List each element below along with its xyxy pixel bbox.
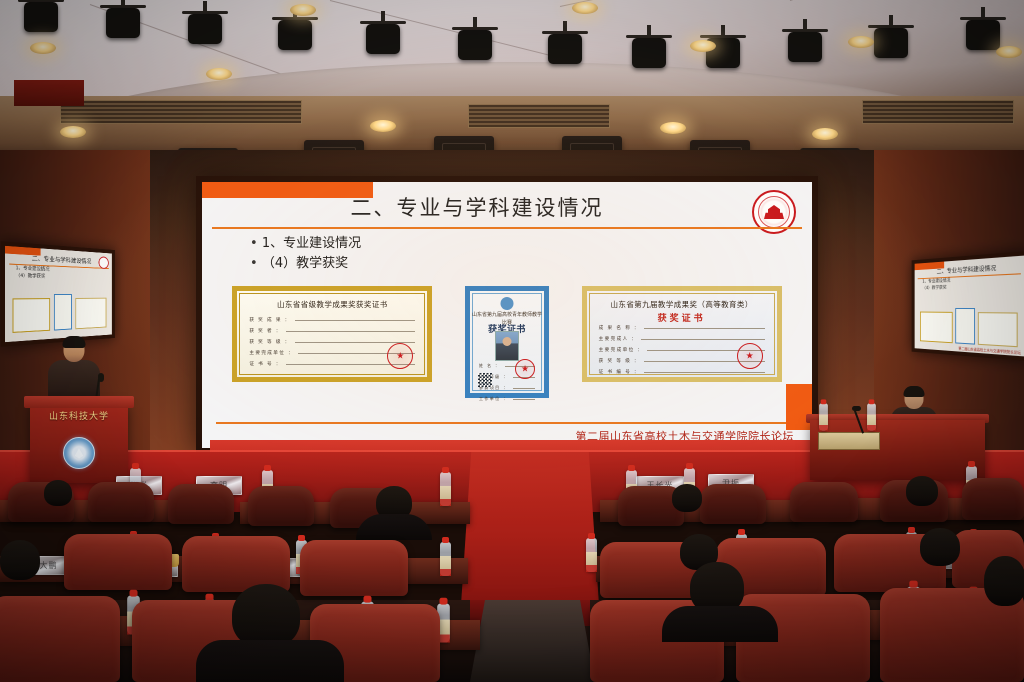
certificate-field-label: 主要完成单位 ： bbox=[249, 350, 294, 356]
certificate-field-label: 证 书 编 号 ： bbox=[599, 369, 640, 375]
certificate-portrait-photo bbox=[495, 331, 519, 361]
presenter-hair bbox=[63, 336, 86, 348]
attendee-head bbox=[44, 480, 72, 506]
certificate-field-label: 主要完成单位 ： bbox=[599, 347, 644, 353]
stage-par-light bbox=[626, 32, 672, 72]
certificate-field-label: 成 果 名 称 ： bbox=[599, 325, 640, 331]
slide-canvas: 二、专业与学科建设情况 1、专业建设情况 （4）教学获奖 山东省省级教学成果奖获… bbox=[202, 182, 812, 448]
certificate-logo-icon bbox=[500, 297, 513, 310]
certificate-field-label: 获 奖 等 级 ： bbox=[599, 358, 640, 364]
water-bottle bbox=[867, 403, 876, 430]
certificate-row: 山东省省级教学成果奖获奖证书 获 奖 成 果 ： 获 奖 者 ： 获 奖 等 级… bbox=[216, 286, 798, 404]
side-certificate-row bbox=[918, 308, 1019, 348]
audience-seat bbox=[168, 484, 234, 524]
stage-par-light bbox=[542, 28, 588, 68]
ventilation-grille bbox=[60, 100, 302, 124]
side-slide-bullet-2: （4）教学获奖 bbox=[16, 274, 46, 282]
certificate-left: 山东省省级教学成果奖获奖证书 获 奖 成 果 ： 获 奖 者 ： 获 奖 等 级… bbox=[232, 286, 432, 382]
side-certificate-left bbox=[12, 298, 50, 333]
recessed-downlight bbox=[812, 128, 838, 140]
stage-par-light bbox=[868, 22, 914, 62]
certificate-field-label: 获 奖 成 果 ： bbox=[249, 317, 290, 323]
moderator-nameplate bbox=[818, 432, 880, 450]
certificate-field-label: 获 奖 者 ： bbox=[249, 328, 282, 334]
attendee-shoulders bbox=[196, 640, 344, 682]
certificate-field-value bbox=[295, 317, 416, 321]
recessed-downlight bbox=[60, 126, 86, 138]
stage-carpet-aisle bbox=[460, 452, 600, 620]
certificate-field-label: 获 奖 等 级 ： bbox=[249, 339, 290, 345]
recessed-downlight bbox=[848, 36, 874, 48]
water-bottle bbox=[586, 538, 597, 572]
stage-par-light bbox=[272, 14, 318, 54]
certificate-field-value bbox=[513, 396, 535, 400]
attendee-head bbox=[984, 556, 1024, 606]
stage-par-light bbox=[360, 18, 406, 58]
certificate-field-label: 姓 名 ： bbox=[479, 363, 501, 369]
recessed-downlight bbox=[370, 120, 396, 132]
audience-seat bbox=[64, 534, 172, 590]
audience-seat bbox=[790, 482, 858, 522]
certificate-field-value bbox=[644, 325, 765, 329]
slide-bullet-2: （4）教学获奖 bbox=[250, 254, 361, 274]
ventilation-grille bbox=[862, 100, 1014, 124]
center-aisle bbox=[470, 600, 595, 682]
certificate-field-value bbox=[513, 385, 535, 389]
certificate-right: 山东省第九届教学成果奖（高等教育类） 获奖证书 成 果 名 称 ： 主要完成人 … bbox=[582, 286, 782, 382]
audience-seat bbox=[88, 482, 154, 522]
certificate-field-value bbox=[644, 369, 765, 373]
recessed-downlight bbox=[572, 2, 598, 14]
speaker-podium: 山东科技大学 bbox=[30, 403, 128, 483]
stage-par-light bbox=[782, 26, 828, 66]
attendee-head bbox=[672, 484, 702, 512]
certificate-field-label: 主要完成人 ： bbox=[599, 336, 638, 342]
side-certificate-left bbox=[920, 312, 953, 344]
stage-par-light bbox=[100, 2, 146, 42]
audience-seat bbox=[700, 484, 766, 524]
slide-title: 二、专业与学科建设情况 bbox=[202, 192, 812, 222]
microphone-icon bbox=[852, 406, 861, 411]
audience-seat bbox=[248, 486, 314, 526]
certificate-subtitle: 获奖证书 bbox=[587, 311, 777, 324]
right-side-display: 二、专业与学科建设情况 1、专业建设情况 （4）教学获奖 第二届山东省高校土木与… bbox=[912, 251, 1024, 361]
stage-par-light bbox=[700, 32, 746, 72]
slide-title-rule bbox=[212, 227, 802, 229]
auditorium-scene: 二、专业与学科建设情况 1、专业建设情况 （4）教学获奖 二、专业与学科建设情况… bbox=[0, 0, 1024, 682]
recessed-downlight bbox=[660, 122, 686, 134]
podium-base bbox=[14, 80, 84, 106]
water-bottle bbox=[819, 403, 828, 430]
audience-seat bbox=[182, 536, 290, 592]
attendee-head bbox=[920, 528, 960, 566]
side-certificate-middle bbox=[956, 308, 975, 345]
university-emblem-icon bbox=[99, 256, 109, 269]
side-slide-footer: 第二届山东省高校土木与交通学院院长论坛 bbox=[958, 346, 1020, 356]
slide-bullet-1: 1、专业建设情况 bbox=[250, 234, 361, 254]
attendee-shoulders bbox=[662, 606, 778, 642]
qr-code bbox=[478, 373, 492, 387]
moderator-table bbox=[810, 420, 985, 480]
main-projection-screen: 二、专业与学科建设情况 1、专业建设情况 （4）教学获奖 山东省省级教学成果奖获… bbox=[196, 176, 818, 454]
official-seal-stamp bbox=[737, 343, 763, 369]
attendee-shoulders bbox=[356, 514, 432, 540]
recessed-downlight bbox=[206, 68, 232, 80]
certificate-title: 山东省第九届教学成果奖（高等教育类） bbox=[587, 299, 777, 310]
slide-corner-accent bbox=[786, 384, 812, 430]
certificate-field-value bbox=[286, 328, 415, 332]
side-certificate-row bbox=[10, 294, 108, 333]
water-bottle bbox=[440, 542, 451, 576]
moderator-hair bbox=[904, 386, 925, 397]
attendee-head bbox=[232, 584, 300, 648]
university-seal-logo-icon bbox=[63, 437, 95, 469]
slide-footer-rule bbox=[216, 422, 798, 424]
stage-par-light bbox=[182, 8, 228, 48]
audience-seat bbox=[300, 540, 408, 596]
side-certificate-middle bbox=[54, 294, 72, 331]
slide-bullet-list: 1、专业建设情况 （4）教学获奖 bbox=[250, 234, 361, 274]
certificate-title: 山东省省级教学成果奖获奖证书 bbox=[237, 299, 427, 310]
attendee-head bbox=[906, 476, 938, 506]
certificate-field-label: 工作单位 ： bbox=[479, 396, 509, 402]
water-bottle bbox=[440, 472, 451, 506]
audience-seat bbox=[0, 596, 120, 682]
left-side-display: 二、专业与学科建设情况 1、专业建设情况 （4）教学获奖 bbox=[1, 241, 115, 347]
certificate-field-label: 证 书 号 ： bbox=[249, 361, 282, 367]
attendee-head bbox=[0, 540, 40, 580]
recessed-downlight bbox=[996, 46, 1022, 58]
audience-seat bbox=[962, 478, 1024, 520]
stage-par-light bbox=[452, 24, 498, 64]
official-seal-stamp bbox=[515, 359, 535, 379]
side-certificate-right bbox=[75, 298, 107, 330]
side-slide-bullet-2: （4）教学获奖 bbox=[922, 286, 946, 293]
recessed-downlight bbox=[290, 4, 316, 16]
stage-par-light bbox=[18, 0, 64, 36]
recessed-downlight bbox=[690, 40, 716, 52]
podium-university-name: 山东科技大学 bbox=[30, 409, 128, 422]
recessed-downlight bbox=[30, 42, 56, 54]
certificate-field-value bbox=[641, 336, 764, 340]
certificate-middle: 山东省第九届高校青年教师教学比赛 获奖证书 姓 名 ： 获奖等级 ： 参赛项目 … bbox=[465, 286, 549, 398]
podium-top-surface bbox=[24, 396, 134, 408]
ventilation-grille bbox=[468, 104, 610, 128]
side-certificate-right bbox=[978, 312, 1018, 347]
microphone-icon bbox=[98, 373, 104, 382]
